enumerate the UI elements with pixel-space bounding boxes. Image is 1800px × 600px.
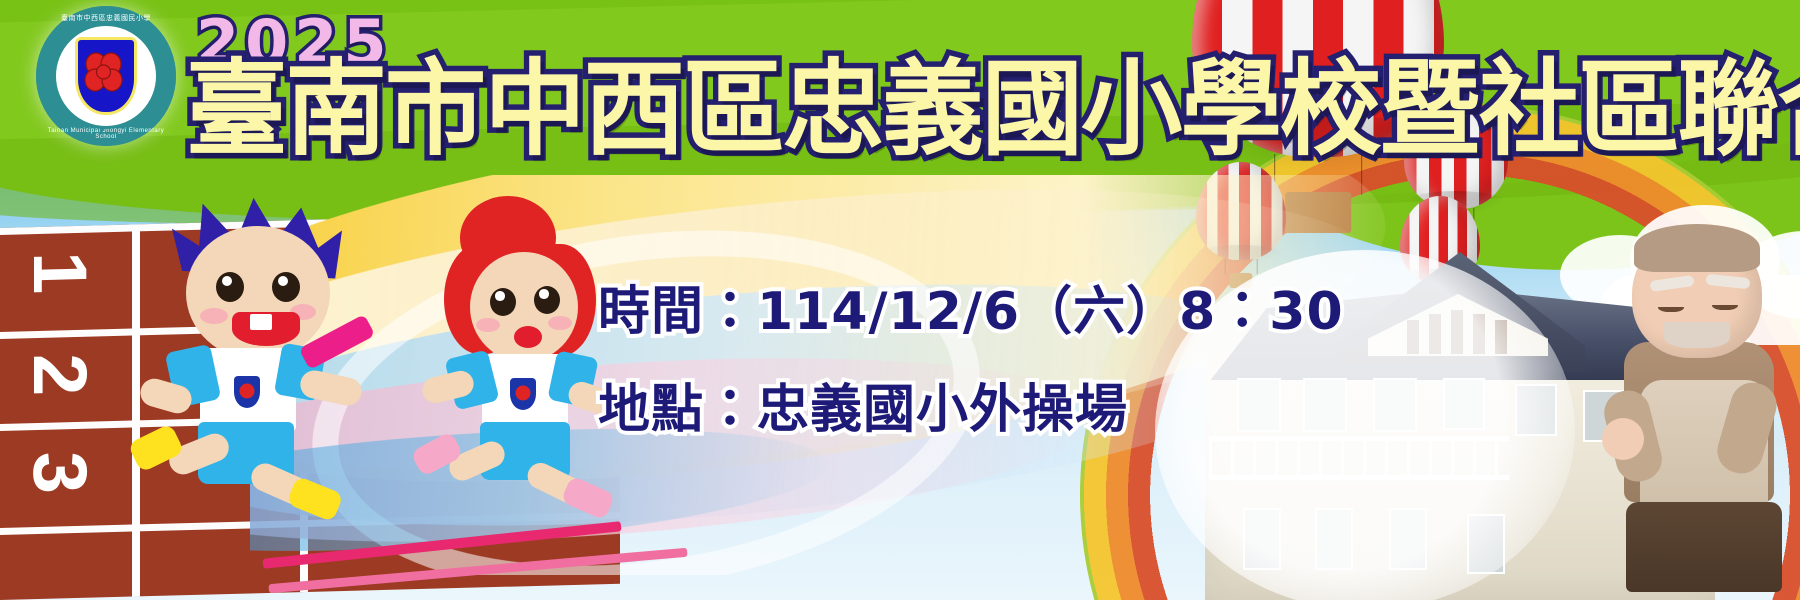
event-place: 地點：忠義國小外操場 <box>598 384 1318 436</box>
mascot-fist <box>1602 418 1644 460</box>
lane-number-3: 3 <box>21 450 97 522</box>
boy-shoe-back <box>286 476 344 523</box>
lane-number-2: 2 <box>21 352 97 424</box>
boy-cheek-left <box>200 308 228 324</box>
old-man-mascot <box>1602 230 1792 600</box>
boy-runner <box>150 196 450 516</box>
sports-day-banner: 1 2 3 <box>0 0 1800 600</box>
lane-number-1: 1 <box>21 250 97 322</box>
event-info: 時間：114/12/6（六）8：30 地點：忠義國小外操場 <box>598 286 1318 482</box>
mascot-hair <box>1634 224 1760 272</box>
mascot-moustache <box>1664 322 1730 348</box>
event-time: 時間：114/12/6（六）8：30 <box>598 286 1318 338</box>
mascot-skirt <box>1626 502 1782 592</box>
girl-cheek-left <box>476 318 500 332</box>
boy-eye-right <box>272 272 300 302</box>
girl-cheek-right <box>548 316 572 330</box>
event-title: 臺南市中西區忠義國小學校暨社區聯合運動大會 <box>186 56 1800 162</box>
girl-mouth <box>514 326 542 348</box>
boy-shirt-crest <box>234 376 260 408</box>
girl-eye-left <box>490 288 516 316</box>
boy-eye-left <box>216 272 244 302</box>
girl-eye-right <box>534 286 560 314</box>
emblem-text-chinese: 臺南市中西區忠義國民小學 <box>36 13 176 23</box>
boy-arm-right <box>298 368 364 408</box>
emblem-text-english: Tainan Municipal Jhongyi Elementary Scho… <box>36 128 176 140</box>
emblem-shield <box>75 37 137 115</box>
girl-shoe-back <box>560 475 615 520</box>
boy-tooth <box>250 314 272 330</box>
mascot-eye-right <box>1712 298 1738 310</box>
school-emblem: 臺南市中西區忠義國民小學 Tainan Municipal Jhongyi El… <box>36 6 176 146</box>
emblem-flower-icon <box>75 37 131 109</box>
mascot-eye-left <box>1658 300 1684 312</box>
girl-shirt-crest <box>510 378 536 410</box>
